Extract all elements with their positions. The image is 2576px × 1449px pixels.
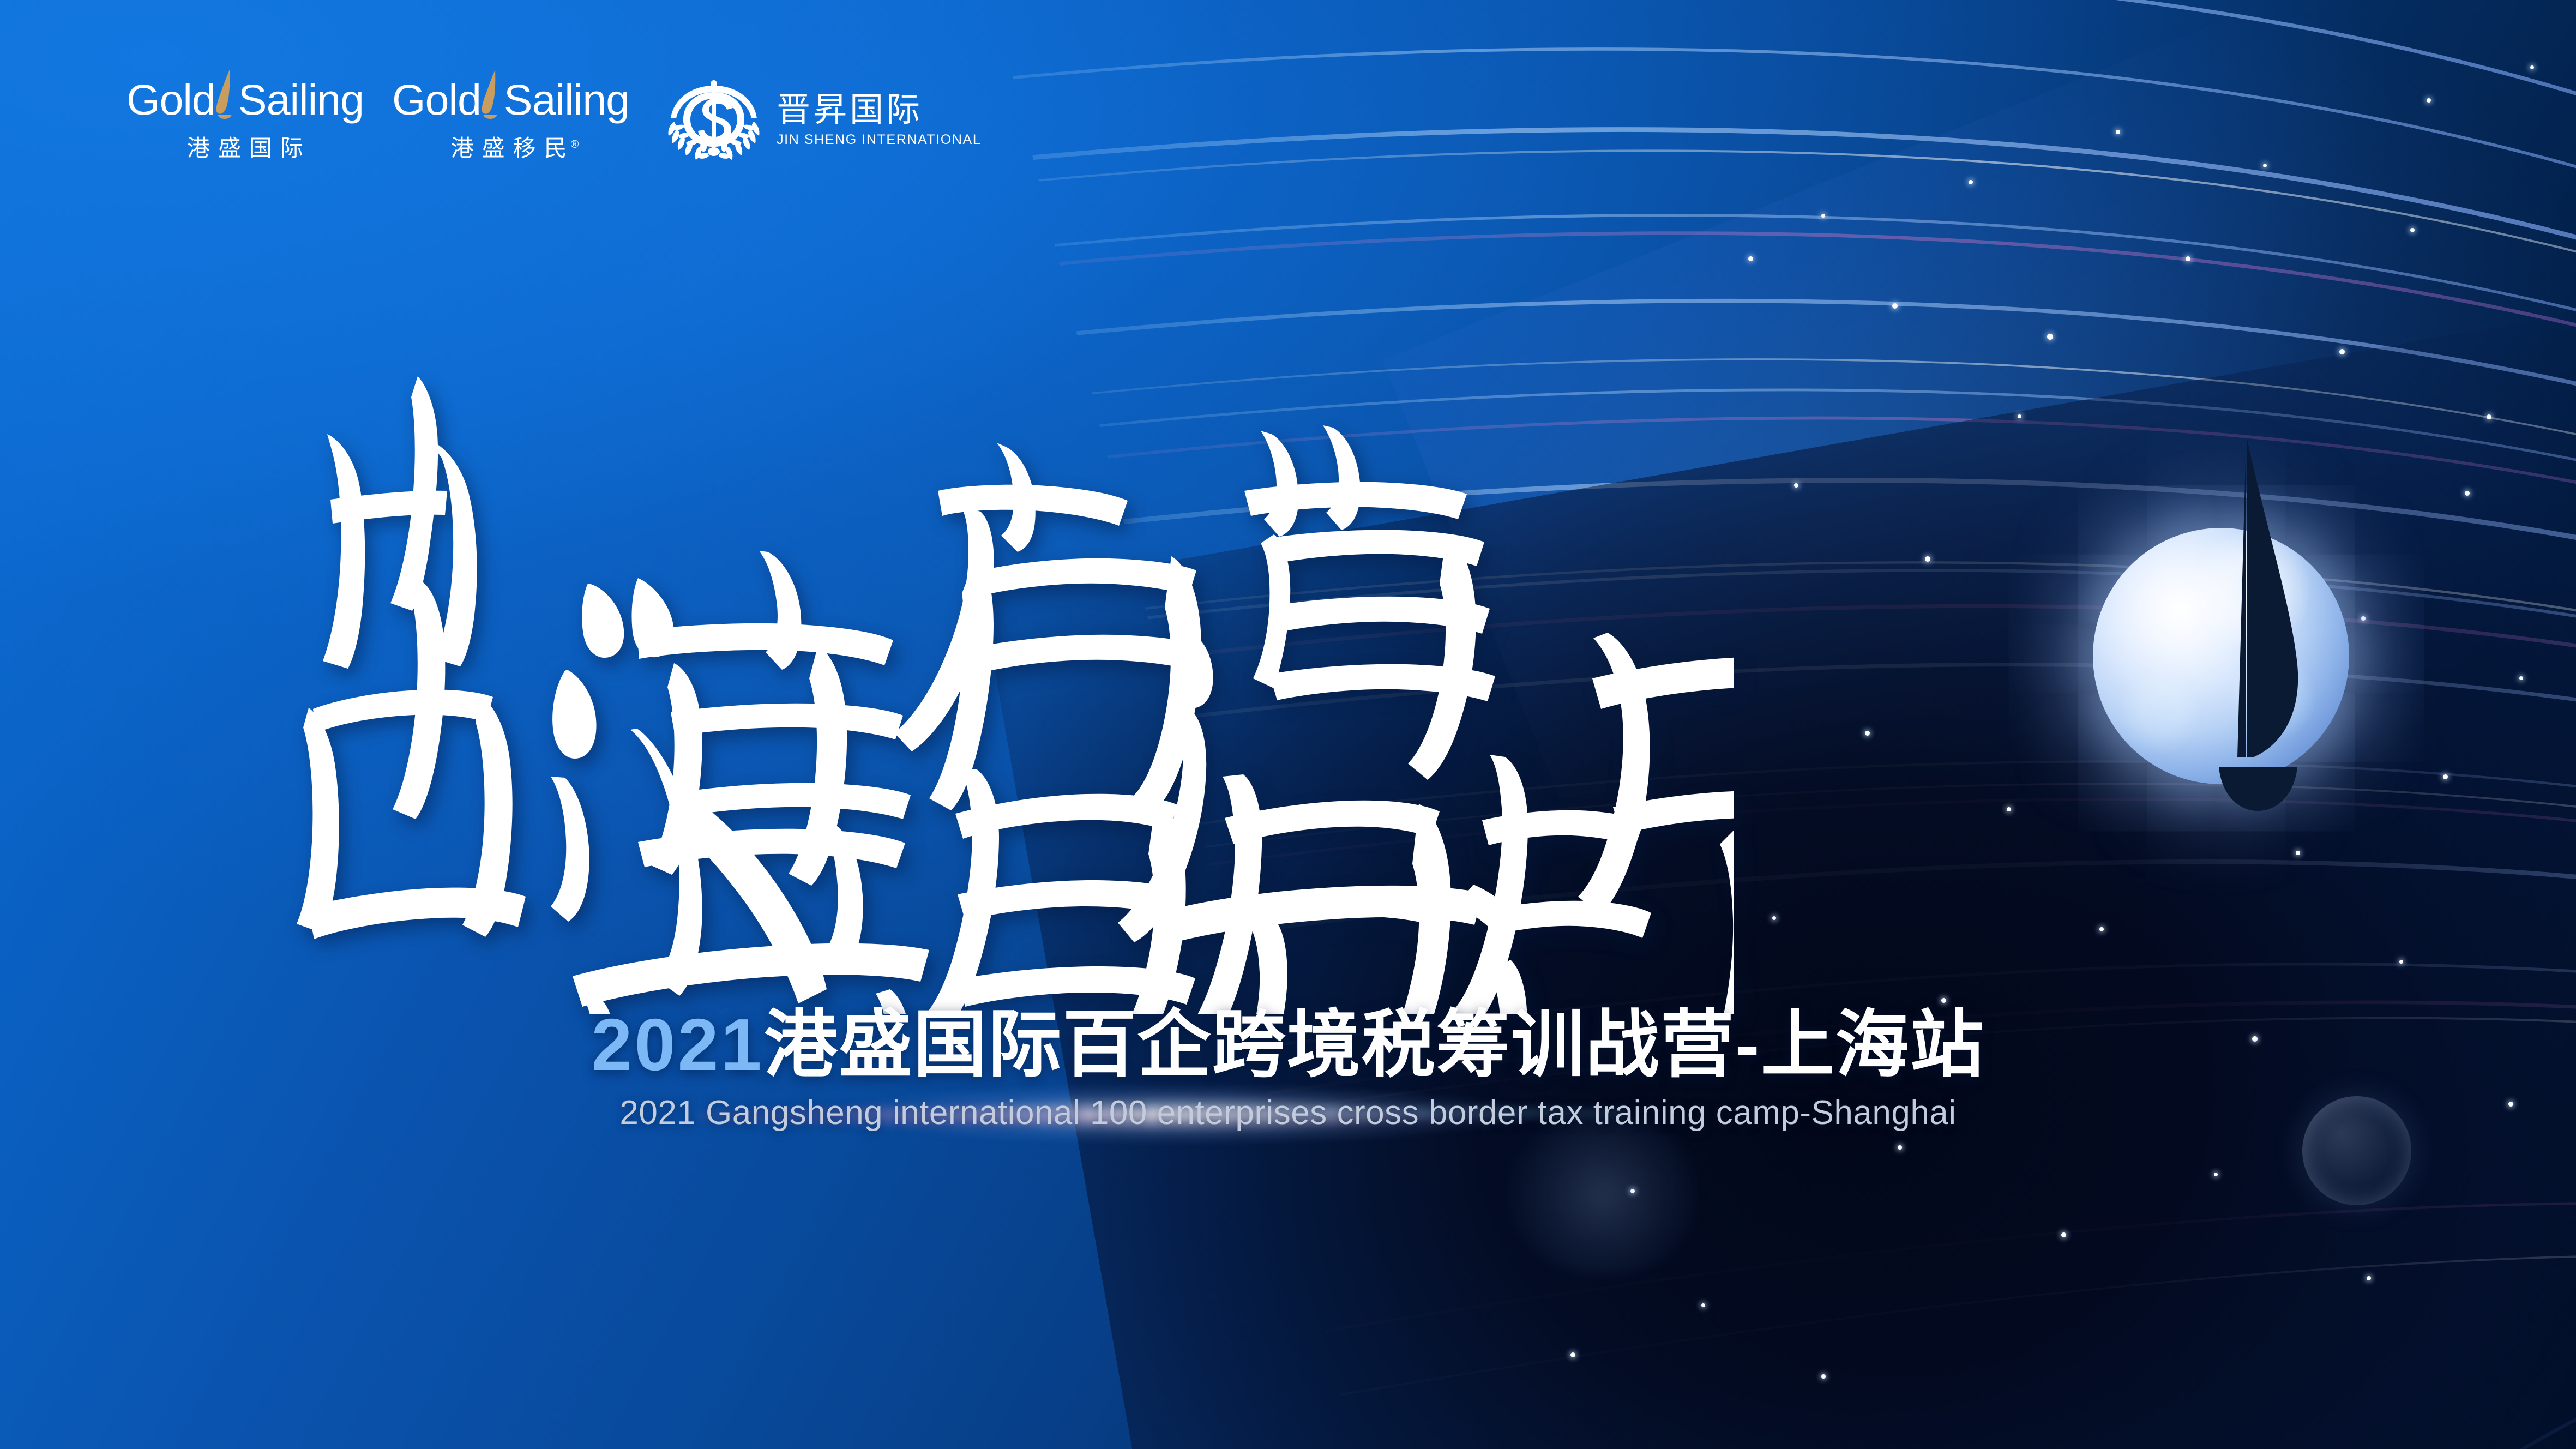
moon-orb <box>2093 528 2349 784</box>
moon-orb-with-sailboat <box>2093 528 2349 784</box>
subtitle-year: 2021 <box>591 1003 763 1086</box>
gold-sail-icon <box>213 69 237 119</box>
logo-gold-sailing-international[interactable]: Gold Sailing 港盛国际 <box>127 64 364 163</box>
sailboat-icon <box>2185 430 2321 812</box>
logo-chinese-name: 港盛国际 <box>179 130 311 163</box>
logo-chinese-name: 港盛移民® <box>443 130 579 163</box>
logo-jin-sheng-international[interactable]: 晋昇国际 JIN SHENG INTERNATIONAL <box>665 79 981 161</box>
logo-english-wordmark: Gold Sailing <box>392 64 629 121</box>
subtitle-chinese-text: 港盛国际百企跨境税筹训战营-上海站 <box>764 1003 1985 1086</box>
subtitle-english: 2021 Gangsheng international 100 enterpr… <box>0 1093 2576 1132</box>
logo-row: Gold Sailing 港盛国际 Gold <box>127 64 981 163</box>
logo-word-gold: Gold <box>392 78 481 121</box>
gold-sail-icon <box>479 69 503 119</box>
event-poster: Gold Sailing 港盛国际 Gold <box>0 0 2576 1449</box>
jin-sheng-english-name: JIN SHENG INTERNATIONAL <box>777 132 981 148</box>
logo-word-sailing: Sailing <box>238 78 364 121</box>
logo-gold-sailing-immigration[interactable]: Gold Sailing 港盛移民® <box>392 64 629 163</box>
headline-calligraphy <box>262 327 1734 1014</box>
logo-word-gold: Gold <box>127 78 215 121</box>
moon-texture <box>2093 528 2349 784</box>
logo-word-sailing: Sailing <box>504 78 629 121</box>
jin-sheng-text-block: 晋昇国际 JIN SHENG INTERNATIONAL <box>777 92 981 147</box>
registered-trademark-icon: ® <box>571 139 579 151</box>
logo-english-wordmark: Gold Sailing <box>127 64 364 121</box>
subtitle-chinese: 2021港盛国际百企跨境税筹训战营-上海站 <box>0 1003 2576 1086</box>
lens-flare-secondary <box>1505 1113 1701 1276</box>
jin-sheng-chinese-name: 晋昇国际 <box>777 92 981 128</box>
laurel-crest-s-monogram-icon <box>665 79 762 161</box>
